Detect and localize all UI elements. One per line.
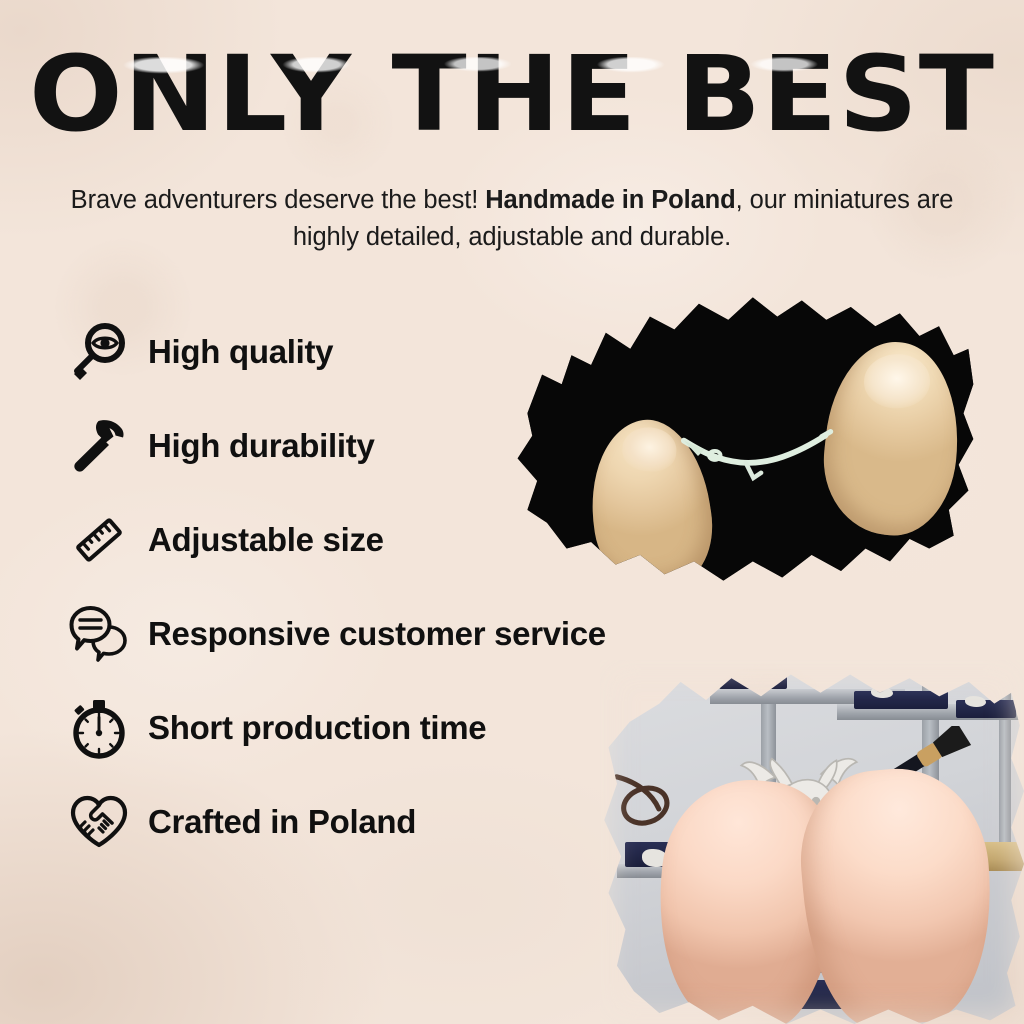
photo-torn-edge-mask [498,278,988,600]
subtitle: Brave adventurers deserve the best! Hand… [62,182,962,256]
subtitle-part-1: Brave adventurers deserve the best! [71,186,486,214]
ruler-icon [62,503,136,577]
stopwatch-icon [62,691,136,765]
feature-label: Adjustable size [148,521,384,559]
feature-label: Responsive customer service [148,615,606,653]
photo-workshop-painting-miniature [600,660,1024,1024]
magnifier-eye-icon [62,315,136,389]
speech-bubbles-icon [62,597,136,671]
feature-label: High durability [148,427,375,465]
hammer-icon [62,409,136,483]
handshake-heart-icon [62,785,136,859]
feature-label: Short production time [148,709,486,747]
photo-torn-edge-mask [600,660,1024,1024]
feature-label: Crafted in Poland [148,803,416,841]
page-title-text: ONLY THE BEST [29,42,995,146]
feature-label: High quality [148,333,333,371]
subtitle-part-2: , [736,186,743,214]
infographic-page: ONLY THE BEST Brave adventurers deserve … [0,0,1024,1024]
subtitle-bold-phrase: Handmade in Poland [485,186,735,214]
page-title: ONLY THE BEST [0,42,1024,146]
photo-flexible-miniature-part [498,278,988,600]
